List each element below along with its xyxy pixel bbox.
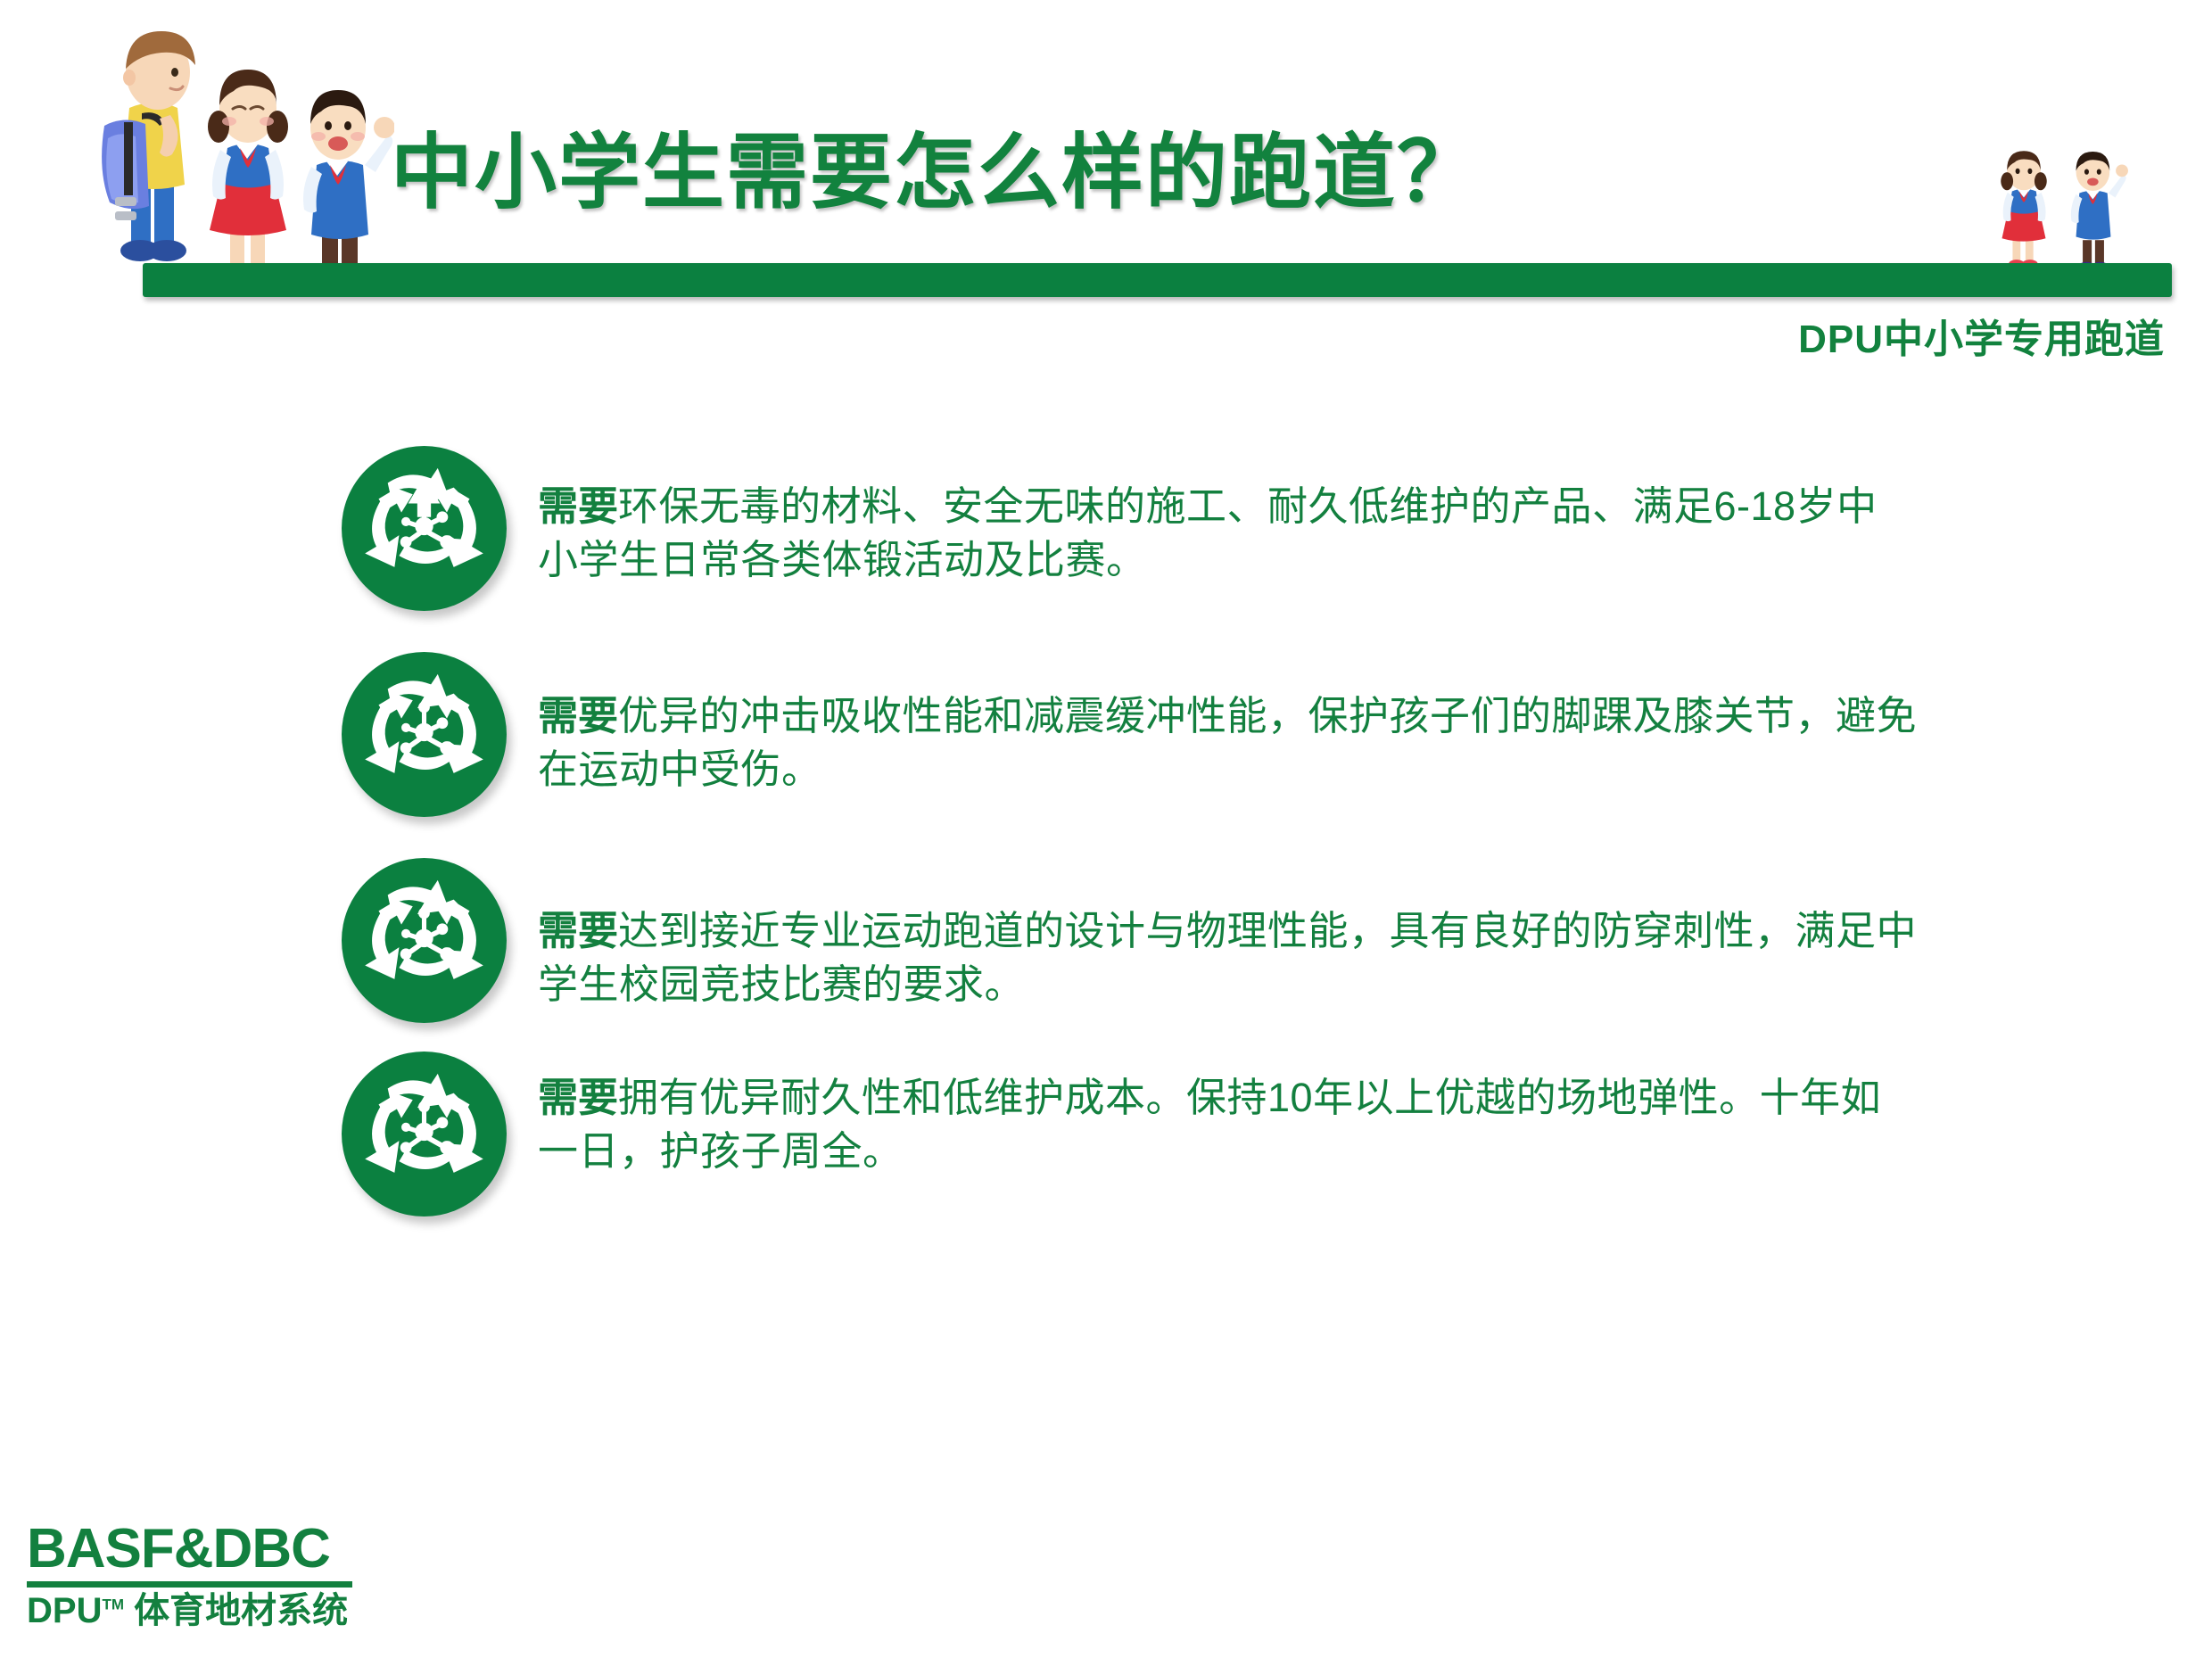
list-item: 需要优异的冲击吸收性能和减震缓冲性能，保护孩子们的脚踝及膝关节，避免在运动中受伤… <box>0 652 2212 817</box>
trademark-symbol: TM <box>102 1596 124 1613</box>
logo-divider <box>27 1581 352 1588</box>
list-item-lead: 需要 <box>538 693 618 738</box>
page-header: 中小学生需要怎么样的跑道？ <box>0 0 2212 294</box>
list-item-text: 需要拥有优异耐久性和低维护成本。保持10年以上优越的场地弹性。十年如一日，护孩子… <box>538 1052 2212 1179</box>
boy-waving <box>283 83 394 288</box>
girl-with-pigtails-small <box>1987 150 2060 270</box>
list-item-body: 环保无毒的材料、安全无味的施工、耐久低维护的产品、满足6-18岁中小学生日常各类… <box>538 483 1878 582</box>
header-subtitle: DPU中小学专用跑道 <box>1798 307 2165 364</box>
bullet-icon-wrapper <box>342 1052 538 1217</box>
footer-logo: BASF&DBC DPUTM 体育地材系统 <box>27 1522 384 1629</box>
list-item-body: 优异的冲击吸收性能和减震缓冲性能，保护孩子们的脚踝及膝关节，避免在运动中受伤。 <box>538 693 1917 792</box>
list-item-body: 拥有优异耐久性和低维护成本。保持10年以上优越的场地弹性。十年如一日，护孩子周全… <box>538 1075 1881 1174</box>
list-item-lead: 需要 <box>538 483 618 529</box>
bullet-icon-wrapper <box>342 652 538 817</box>
boy-waving-small <box>2057 152 2130 272</box>
bullet-icon-wrapper <box>342 858 538 1023</box>
list-item-text: 需要达到接近专业运动跑道的设计与物理性能，具有良好的防穿刺性，满足中学生校园竞技… <box>538 858 2212 1012</box>
header-green-bar <box>143 263 2172 297</box>
product-name: DPU <box>27 1591 102 1630</box>
list-item: 需要拥有优异耐久性和低维护成本。保持10年以上优越的场地弹性。十年如一日，护孩子… <box>0 1052 2212 1217</box>
page-title: 中小学生需要怎么样的跑道？ <box>391 132 1481 214</box>
list-item-lead: 需要 <box>538 1075 618 1120</box>
list-item-body: 达到接近专业运动跑道的设计与物理性能，具有良好的防穿刺性，满足中学生校园竞技比赛… <box>538 908 1917 1007</box>
brand-name: BASF&DBC <box>27 1522 384 1577</box>
list-item: 需要环保无毒的材料、安全无味的施工、耐久低维护的产品、满足6-18岁中小学生日常… <box>0 446 2212 611</box>
recycling-molecule-icon <box>342 446 507 611</box>
recycling-molecule-icon <box>342 1052 507 1217</box>
list-item-lead: 需要 <box>538 908 618 953</box>
list-item-text: 需要环保无毒的材料、安全无味的施工、耐久低维护的产品、满足6-18岁中小学生日常… <box>538 446 2212 588</box>
recycling-molecule-icon <box>342 858 507 1023</box>
recycling-molecule-icon <box>342 652 507 817</box>
tagline-text: 体育地材系统 <box>134 1591 348 1630</box>
bullet-icon-wrapper <box>342 446 538 611</box>
list-item: 需要达到接近专业运动跑道的设计与物理性能，具有良好的防穿刺性，满足中学生校园竞技… <box>0 858 2212 1023</box>
product-tagline: DPUTM 体育地材系统 <box>27 1593 384 1629</box>
list-item-text: 需要优异的冲击吸收性能和减震缓冲性能，保护孩子们的脚踝及膝关节，避免在运动中受伤… <box>538 652 2212 797</box>
requirements-list: 需要环保无毒的材料、安全无味的施工、耐久低维护的产品、满足6-18岁中小学生日常… <box>0 446 2212 1245</box>
